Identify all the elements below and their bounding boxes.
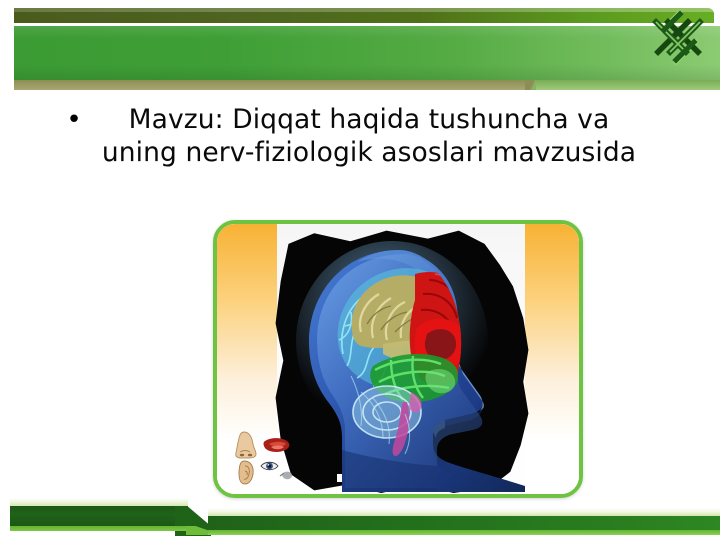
brain-photo-frame bbox=[213, 220, 583, 498]
ear-icon bbox=[239, 461, 253, 484]
woven-knot-logo-icon bbox=[646, 10, 710, 72]
top-banner-strip-highlight bbox=[14, 8, 714, 12]
eye-icon bbox=[261, 462, 278, 470]
top-banner bbox=[0, 0, 720, 96]
presentation-slide: • Mavzu: Diqqat haqida tushuncha va unin… bbox=[0, 0, 720, 540]
hand-touch-icon bbox=[280, 472, 292, 480]
top-banner-footer-strip-left bbox=[14, 80, 536, 90]
bottom-banner-dark-band-right bbox=[208, 516, 720, 530]
bottom-banner-pale-strip-right bbox=[208, 508, 720, 516]
slide-title-text: Mavzu: Diqqat haqida tushuncha va uning … bbox=[88, 103, 660, 169]
human-head-profile bbox=[287, 236, 525, 494]
bottom-banner-bright-line-right bbox=[208, 530, 720, 535]
nose-icon bbox=[236, 432, 256, 458]
bottom-banner-bright-line-left bbox=[10, 526, 188, 531]
top-banner-footer-strip-right bbox=[536, 80, 720, 90]
title-bullet-glyph: • bbox=[60, 103, 88, 137]
slide-title-block: • Mavzu: Diqqat haqida tushuncha va unin… bbox=[60, 103, 660, 169]
bottom-banner bbox=[0, 496, 720, 540]
top-banner-band-shading bbox=[14, 26, 720, 81]
bottom-banner-dark-band-left bbox=[10, 506, 188, 526]
sensory-organ-icons bbox=[235, 428, 297, 486]
mouth-tongue-icon bbox=[264, 438, 290, 452]
bottom-banner-pale-strip-left bbox=[10, 498, 188, 506]
brain-photo-image bbox=[217, 224, 579, 494]
